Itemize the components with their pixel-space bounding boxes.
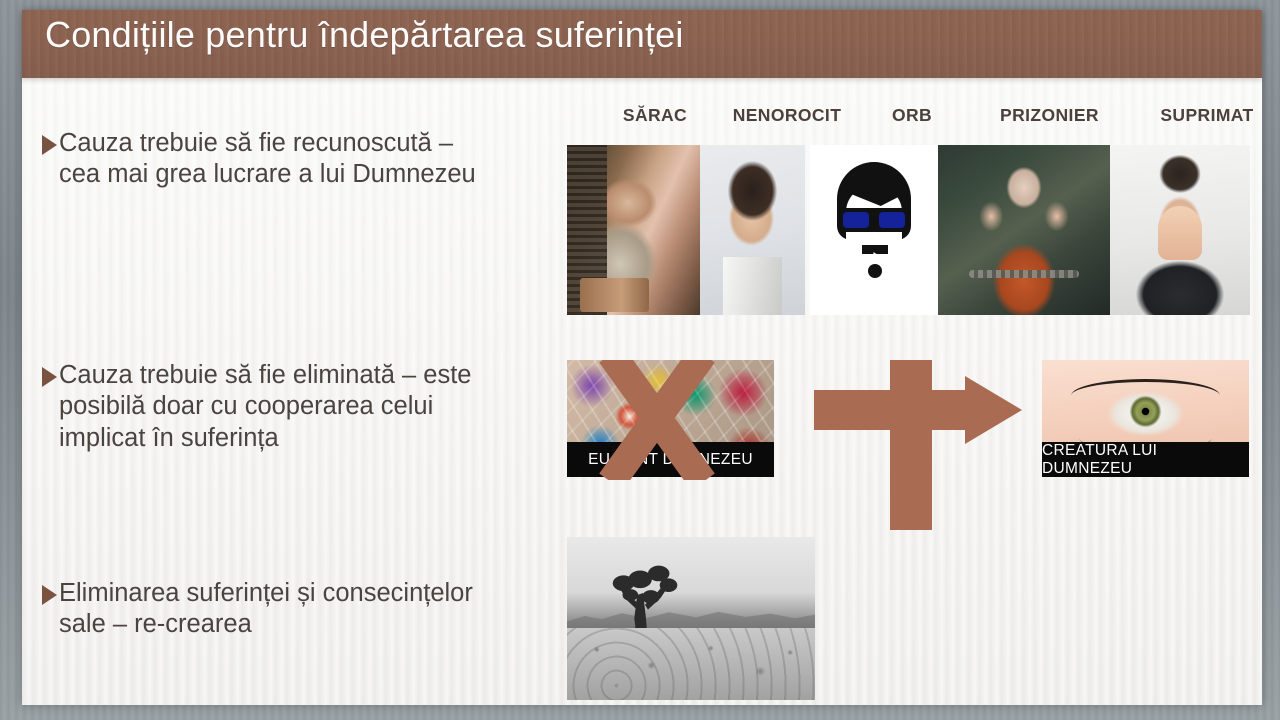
bullet-line: sale – re-crearea [59, 610, 252, 638]
category-label-orb: ORB [867, 105, 957, 126]
category-label-row: SĂRAC NENOROCIT ORB PRIZONIER SUPRIMAT [567, 105, 1257, 137]
blind-face-icon [837, 162, 911, 292]
photo-suprimat [1110, 145, 1250, 315]
bullet-line: posibilă doar cu cooperarea celui [59, 392, 433, 420]
joshua-tree-silhouette [607, 550, 685, 687]
bullet-line: cea mai grea lucrare a lui Dumnezeu [59, 160, 476, 188]
triangle-bullet-icon [42, 367, 57, 387]
triangle-bullet-icon [42, 585, 57, 605]
bullet-line: implicat în suferința [59, 424, 279, 452]
bullet-line: Cauza trebuie să fie eliminată – este [59, 361, 471, 389]
chin-beard-shape [868, 264, 882, 278]
photo-prizonier [938, 145, 1110, 315]
photo-nenorocit [700, 145, 805, 315]
sunglasses-icon [839, 208, 909, 232]
category-label-nenorocit: NENOROCIT [717, 105, 857, 126]
bullet-text-1: Cauza trebuie să fie recunoscută – cea m… [59, 128, 476, 191]
image-desert-joshua-tree [567, 537, 815, 700]
bullet-item-3: Eliminarea suferinței și consecințelor s… [42, 578, 552, 641]
photo-orb [810, 145, 938, 315]
bullet-item-2: Cauza trebuie să fie eliminată – este po… [42, 360, 542, 454]
lens-right [879, 212, 905, 228]
image-creatura-lui-dumnezeu: CREATURA LUI DUMNEZEU [1042, 360, 1249, 477]
moustache-shape [862, 245, 888, 254]
category-label-suprimat: SUPRIMAT [1137, 105, 1277, 126]
lens-left [843, 212, 869, 228]
category-label-prizonier: PRIZONIER [967, 105, 1132, 126]
category-label-sarac: SĂRAC [605, 105, 705, 126]
photo-sarac [567, 145, 700, 315]
bullet-item-1: Cauza trebuie să fie recunoscută – cea m… [42, 128, 542, 191]
bullet-text-3: Eliminarea suferinței și consecințelor s… [59, 578, 473, 641]
bullet-text-2: Cauza trebuie să fie eliminată – este po… [59, 360, 471, 454]
page-title: Condițiile pentru îndepărtarea suferințe… [45, 14, 684, 56]
triangle-bullet-icon [42, 135, 57, 155]
slide-canvas: Condițiile pentru îndepărtarea suferințe… [0, 0, 1280, 720]
comparison-row: EU SUNT DUMNEZEU CREATURA LUI DUMNEZEU [567, 360, 1257, 480]
bullet-line: Cauza trebuie să fie recunoscută – [59, 129, 453, 157]
caption-creatura-lui-dumnezeu: CREATURA LUI DUMNEZEU [1042, 442, 1249, 477]
bullet-line: Eliminarea suferinței și consecințelor [59, 579, 473, 607]
